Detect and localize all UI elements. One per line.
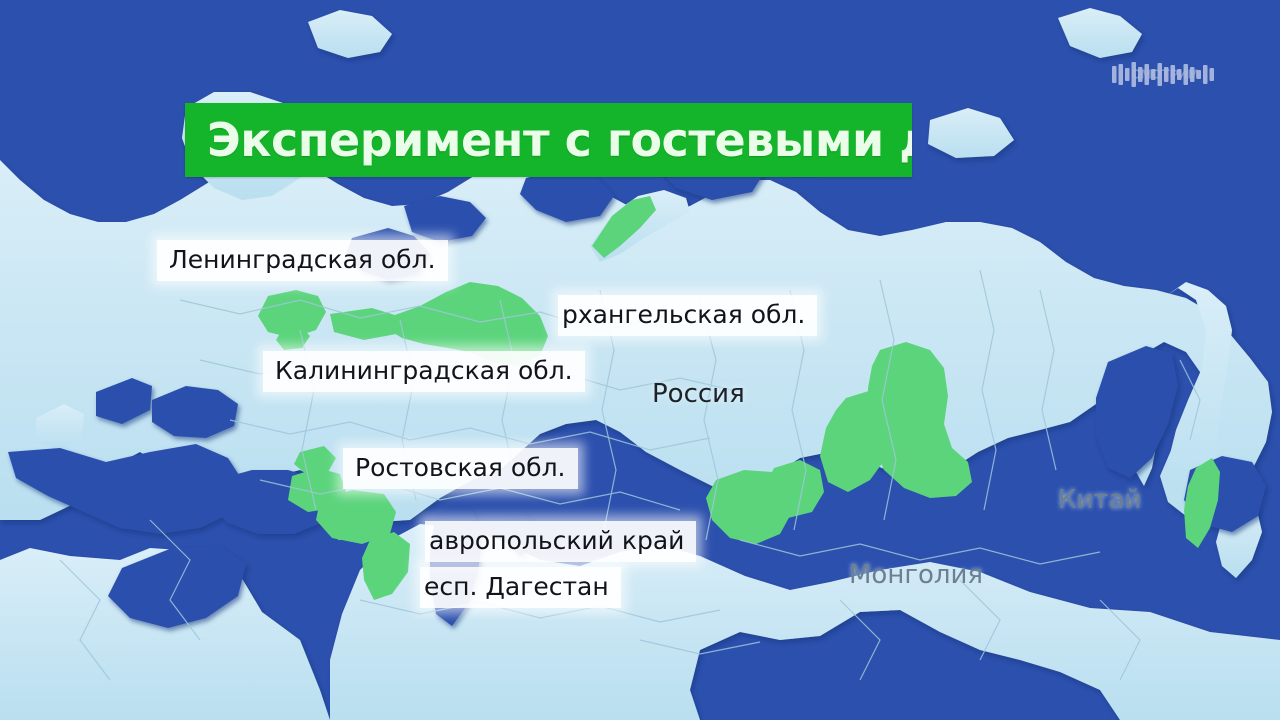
region-label-kaliningradskaya-oblast: Калининградская обл.	[263, 351, 585, 392]
title-banner-text: Эксперимент с гостевыми д	[207, 117, 912, 163]
region-label-respublika-dagestan: есп. Дагестан	[420, 567, 621, 608]
broadcast-frame: СМОТРИМ Эксперимент с гостевыми д Россия…	[0, 0, 1280, 720]
region-label-stavropolskiy-kray: авропольский край	[425, 521, 696, 562]
map-label-china: Китай	[1058, 487, 1141, 513]
region-label-leningradskaya-oblast: Ленинградская обл.	[157, 240, 448, 281]
map-label-russia: Россия	[652, 381, 745, 407]
region-label-rostovskaya-oblast: Ростовская обл.	[343, 448, 578, 489]
title-banner: Эксперимент с гостевыми д	[185, 103, 912, 177]
region-label-arkhangelskaya-oblast: рхангельская обл.	[558, 295, 817, 336]
map-label-mongolia: Монголия	[849, 562, 983, 588]
